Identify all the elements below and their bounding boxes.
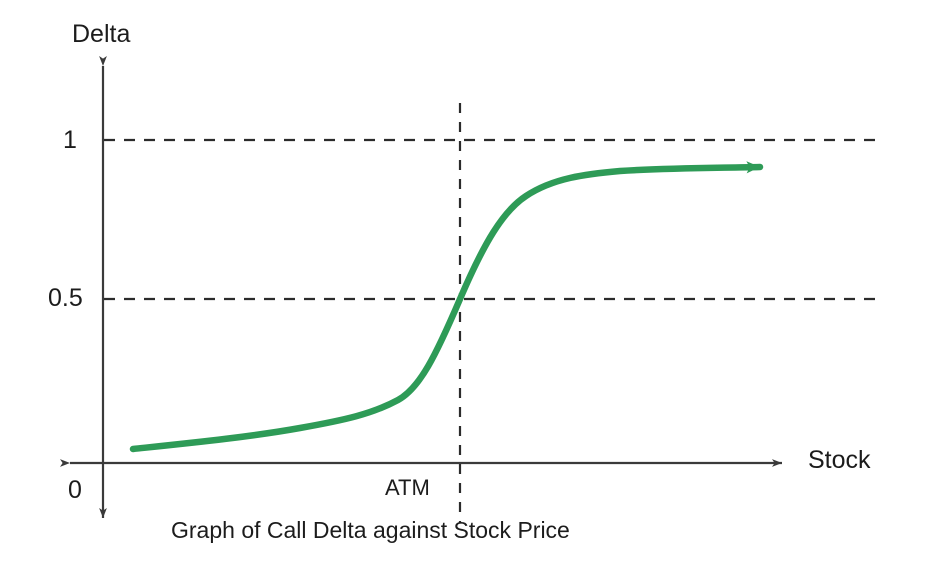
- x-axis-title: Stock: [808, 448, 871, 473]
- x-tick-label-atm: ATM: [385, 477, 430, 499]
- y-axis-title: Delta: [72, 22, 130, 47]
- origin-label: 0: [68, 478, 82, 503]
- figure-canvas: Delta Stock 1 0.5 0 ATM Graph of Call De…: [0, 0, 932, 579]
- y-tick-label-1: 1: [63, 128, 77, 153]
- y-tick-label-0-5: 0.5: [48, 286, 83, 311]
- figure-caption: Graph of Call Delta against Stock Price: [171, 519, 570, 542]
- call-delta-curve: [133, 167, 760, 449]
- delta-curve-plot: [0, 0, 932, 579]
